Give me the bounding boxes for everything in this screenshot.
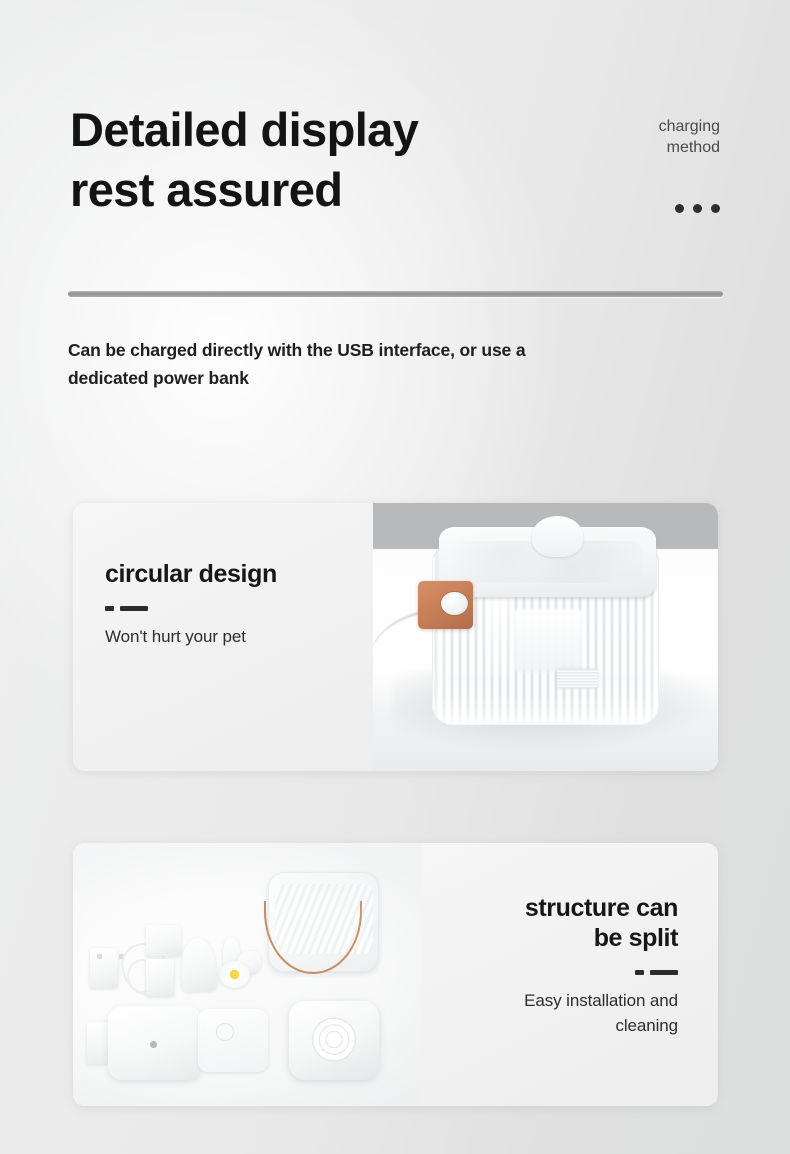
leather-tag-with-button xyxy=(418,581,473,629)
fountain-inner-tank xyxy=(514,609,582,673)
dash-divider-icon xyxy=(105,606,347,611)
base-plate-with-grooves xyxy=(289,1001,379,1080)
page-title: Detailed display rest assured xyxy=(70,100,418,220)
card-subtitle: Won't hurt your pet xyxy=(105,625,347,650)
usb-power-adapter xyxy=(90,948,118,987)
dash-divider-icon xyxy=(447,970,678,975)
dash-short-icon xyxy=(105,606,114,611)
dash-long-icon xyxy=(650,970,678,975)
dot-icon xyxy=(675,204,684,213)
feature-card-circular-design: circular design Won't hurt your pet xyxy=(73,503,718,771)
fountain-pump xyxy=(557,669,598,688)
fountain-nozzle xyxy=(532,516,584,556)
card-photo-parts xyxy=(73,843,421,1106)
product-detail-page: Detailed display rest assured charging m… xyxy=(0,0,790,1154)
card-text-panel: circular design Won't hurt your pet xyxy=(73,503,373,771)
ellipsis-dots-icon xyxy=(610,204,720,213)
header-meta: charging method xyxy=(610,100,720,213)
filter-box xyxy=(146,925,181,957)
card-text-panel: structure can be split Easy installation… xyxy=(421,843,718,1106)
water-funnel-part xyxy=(180,937,218,991)
eyebrow-label: charging method xyxy=(610,116,720,158)
page-header: Detailed display rest assured charging m… xyxy=(70,100,720,220)
section-description: Can be charged directly with the USB int… xyxy=(68,336,668,393)
card-title: circular design xyxy=(105,559,347,589)
water-basin xyxy=(108,1006,202,1080)
card-photo-fountain xyxy=(373,503,718,771)
feature-card-split-structure: structure can be split Easy installation… xyxy=(73,843,718,1106)
manual-booklet xyxy=(146,959,174,996)
product-photo-disassembled xyxy=(73,843,421,1106)
section-divider xyxy=(68,291,723,297)
dash-long-icon xyxy=(120,606,148,611)
daisy-flower-float xyxy=(219,961,250,987)
middle-tray xyxy=(198,1009,268,1072)
card-title: structure can be split xyxy=(447,893,678,953)
product-photo-assembled xyxy=(373,503,718,771)
dot-icon xyxy=(693,204,702,213)
dot-icon xyxy=(711,204,720,213)
glass-highlight xyxy=(486,587,509,679)
dash-short-icon xyxy=(635,970,644,975)
card-subtitle: Easy installation and cleaning xyxy=(447,989,678,1038)
